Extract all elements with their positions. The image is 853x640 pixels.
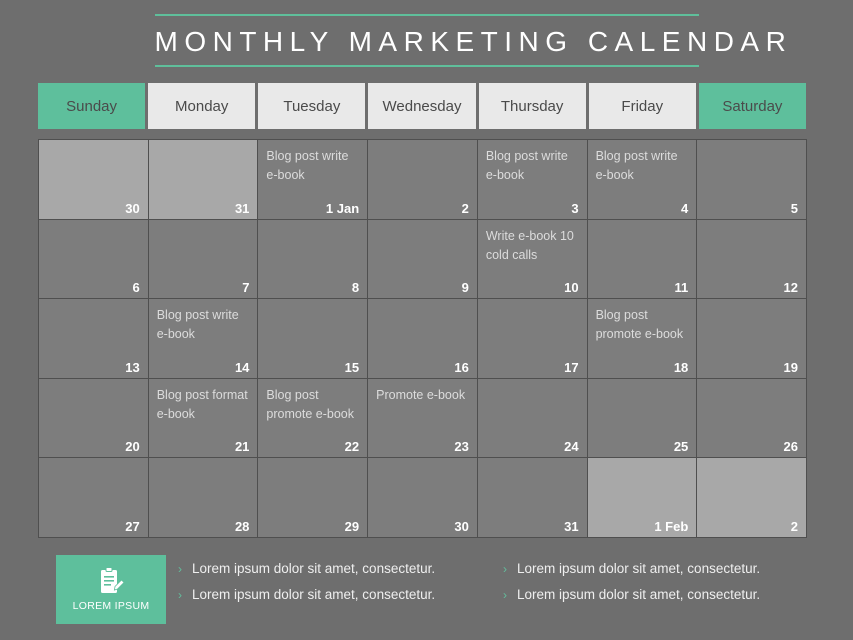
weekday-header-friday: Friday xyxy=(589,83,696,129)
cell-day-number: 2 xyxy=(791,519,798,534)
calendar-cell[interactable]: 26 xyxy=(697,379,807,459)
cell-day-number: 27 xyxy=(125,519,139,534)
cell-day-number: 15 xyxy=(345,360,359,375)
cell-day-number: 1 Feb xyxy=(654,519,688,534)
calendar-cell[interactable]: 2 xyxy=(368,140,478,220)
calendar-cell[interactable]: 7 xyxy=(149,220,259,300)
calendar-cell[interactable]: 15 xyxy=(258,299,368,379)
weekday-header-monday: Monday xyxy=(148,83,255,129)
calendar-cell[interactable]: 28 xyxy=(149,458,259,538)
cell-event-text: Blog post write e-book xyxy=(486,147,579,185)
cell-day-number: 3 xyxy=(571,201,578,216)
chevron-right-icon: › xyxy=(178,560,182,578)
cell-day-number: 14 xyxy=(235,360,249,375)
cell-day-number: 29 xyxy=(345,519,359,534)
weekday-header-saturday: Saturday xyxy=(699,83,806,129)
cell-day-number: 25 xyxy=(674,439,688,454)
cell-day-number: 5 xyxy=(791,201,798,216)
cell-day-number: 9 xyxy=(462,280,469,295)
calendar-cell[interactable]: 19 xyxy=(697,299,807,379)
calendar-cell[interactable]: 29 xyxy=(258,458,368,538)
weekday-header-row: SundayMondayTuesdayWednesdayThursdayFrid… xyxy=(38,83,806,129)
calendar-cell[interactable]: Blog post format e-book21 xyxy=(149,379,259,459)
title-rule-bottom xyxy=(155,65,699,67)
weekday-header-wednesday: Wednesday xyxy=(368,83,475,129)
cell-day-number: 1 Jan xyxy=(326,201,359,216)
calendar-cell[interactable]: 27 xyxy=(39,458,149,538)
cell-day-number: 30 xyxy=(454,519,468,534)
calendar-cell[interactable]: Blog post write e-book1 Jan xyxy=(258,140,368,220)
page-title: MONTHLY MARKETING CALENDAR xyxy=(155,0,699,67)
chevron-right-icon: › xyxy=(503,586,507,604)
cell-day-number: 10 xyxy=(564,280,578,295)
lorem-ipsum-badge[interactable]: LOREM IPSUM xyxy=(56,555,166,624)
clipboard-pen-icon xyxy=(97,567,125,597)
calendar-cell[interactable]: Blog post write e-book3 xyxy=(478,140,588,220)
calendar-cell[interactable]: Promote e-book23 xyxy=(368,379,478,459)
calendar-cell[interactable]: Blog post write e-book4 xyxy=(588,140,698,220)
cell-day-number: 22 xyxy=(345,439,359,454)
calendar-cell[interactable]: Blog post promote e-book22 xyxy=(258,379,368,459)
cell-event-text: Promote e-book xyxy=(376,386,469,405)
cell-day-number: 6 xyxy=(132,280,139,295)
calendar-cell[interactable]: Write e-book 10 cold calls10 xyxy=(478,220,588,300)
calendar-cell[interactable]: 24 xyxy=(478,379,588,459)
calendar-cell[interactable]: 30 xyxy=(39,140,149,220)
footer-note-item: ›Lorem ipsum dolor sit amet, consectetur… xyxy=(503,586,818,604)
cell-day-number: 2 xyxy=(462,201,469,216)
footer-note-text: Lorem ipsum dolor sit amet, consectetur. xyxy=(192,586,435,604)
calendar-cell[interactable]: 2 xyxy=(697,458,807,538)
cell-event-text: Blog post format e-book xyxy=(157,386,250,424)
calendar-cell[interactable]: 6 xyxy=(39,220,149,300)
calendar-cell[interactable]: 16 xyxy=(368,299,478,379)
cell-event-text: Write e-book 10 cold calls xyxy=(486,227,579,265)
footer-note-text: Lorem ipsum dolor sit amet, consectetur. xyxy=(192,560,435,578)
calendar-cell[interactable]: 8 xyxy=(258,220,368,300)
chevron-right-icon: › xyxy=(503,560,507,578)
footer-note-item: ›Lorem ipsum dolor sit amet, consectetur… xyxy=(178,586,493,604)
cell-day-number: 8 xyxy=(352,280,359,295)
footer: LOREM IPSUM ›Lorem ipsum dolor sit amet,… xyxy=(0,552,853,632)
calendar-cell[interactable]: 1 Feb xyxy=(588,458,698,538)
footer-note-item: ›Lorem ipsum dolor sit amet, consectetur… xyxy=(178,560,493,578)
calendar-cell[interactable]: 31 xyxy=(149,140,259,220)
footer-note-text: Lorem ipsum dolor sit amet, consectetur. xyxy=(517,586,760,604)
cell-day-number: 7 xyxy=(242,280,249,295)
cell-day-number: 31 xyxy=(564,519,578,534)
calendar-grid: 3031Blog post write e-book1 Jan2Blog pos… xyxy=(38,139,807,538)
cell-day-number: 30 xyxy=(125,201,139,216)
calendar-cell[interactable]: 9 xyxy=(368,220,478,300)
footer-note-item: ›Lorem ipsum dolor sit amet, consectetur… xyxy=(503,560,818,578)
weekday-header-tuesday: Tuesday xyxy=(258,83,365,129)
calendar-cell[interactable]: 31 xyxy=(478,458,588,538)
calendar-cell[interactable]: Blog post write e-book14 xyxy=(149,299,259,379)
calendar-cell[interactable]: 12 xyxy=(697,220,807,300)
cell-day-number: 24 xyxy=(564,439,578,454)
cell-event-text: Blog post promote e-book xyxy=(266,386,359,424)
cell-day-number: 17 xyxy=(564,360,578,375)
calendar-cell[interactable]: 13 xyxy=(39,299,149,379)
footer-notes-list: ›Lorem ipsum dolor sit amet, consectetur… xyxy=(178,560,818,604)
cell-day-number: 16 xyxy=(454,360,468,375)
weekday-header-thursday: Thursday xyxy=(479,83,586,129)
calendar-cell[interactable]: 11 xyxy=(588,220,698,300)
cell-event-text: Blog post promote e-book xyxy=(596,306,689,344)
cell-day-number: 31 xyxy=(235,201,249,216)
cell-day-number: 4 xyxy=(681,201,688,216)
cell-day-number: 21 xyxy=(235,439,249,454)
weekday-header-sunday: Sunday xyxy=(38,83,145,129)
badge-label: LOREM IPSUM xyxy=(73,600,150,612)
title-rule-top xyxy=(155,14,699,16)
calendar-cell[interactable]: 17 xyxy=(478,299,588,379)
footer-note-text: Lorem ipsum dolor sit amet, consectetur. xyxy=(517,560,760,578)
cell-day-number: 18 xyxy=(674,360,688,375)
cell-day-number: 13 xyxy=(125,360,139,375)
cell-day-number: 26 xyxy=(784,439,798,454)
calendar-cell[interactable]: 30 xyxy=(368,458,478,538)
cell-day-number: 23 xyxy=(454,439,468,454)
chevron-right-icon: › xyxy=(178,586,182,604)
cell-day-number: 19 xyxy=(784,360,798,375)
cell-event-text: Blog post write e-book xyxy=(266,147,359,185)
calendar-cell[interactable]: 5 xyxy=(697,140,807,220)
calendar-cell[interactable]: 20 xyxy=(39,379,149,459)
cell-day-number: 12 xyxy=(784,280,798,295)
calendar-cell[interactable]: 25 xyxy=(588,379,698,459)
page-title-text: MONTHLY MARKETING CALENDAR xyxy=(155,25,699,59)
cell-day-number: 28 xyxy=(235,519,249,534)
cell-day-number: 20 xyxy=(125,439,139,454)
cell-day-number: 11 xyxy=(675,280,689,295)
cell-event-text: Blog post write e-book xyxy=(596,147,689,185)
calendar-cell[interactable]: Blog post promote e-book18 xyxy=(588,299,698,379)
cell-event-text: Blog post write e-book xyxy=(157,306,250,344)
